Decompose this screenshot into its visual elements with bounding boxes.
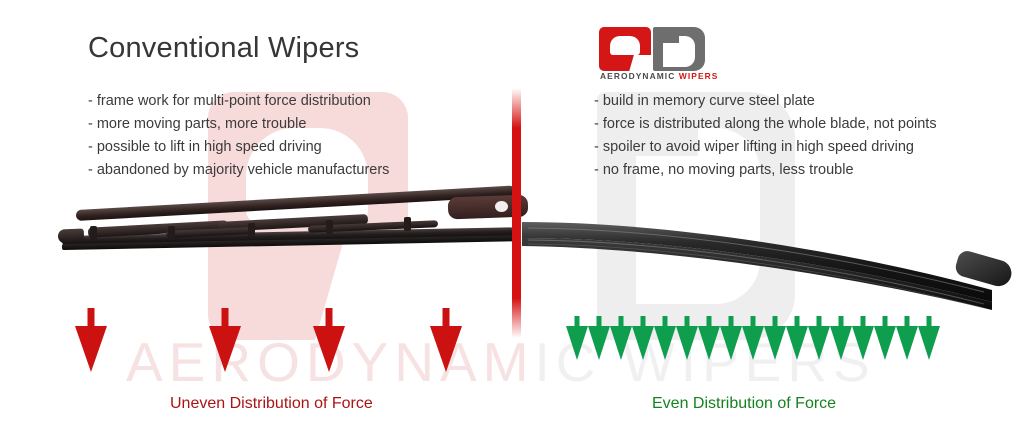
arrow-head [588,326,610,360]
page-title: Conventional Wipers [88,32,359,65]
logo-tagline-part2: WIPERS [679,71,719,81]
force-arrow-icon [632,316,654,360]
arrow-head [830,326,852,360]
force-arrow-icon [918,316,940,360]
list-item: - possible to lift in high speed driving [88,136,389,159]
arrow-head [742,326,764,360]
force-arrow-icon [610,316,632,360]
logo-tagline: AERODYNAMIC WIPERS [600,71,718,81]
logo-tagline-part1: AERODYNAMIC [600,71,675,81]
wiper-end-tip [58,229,84,244]
list-item: - force is distributed along the whole b… [594,113,937,136]
arrow-head [610,326,632,360]
aerodynamic-wiper-image [522,218,1010,314]
arrow-head [852,326,874,360]
force-arrow-icon [896,316,918,360]
aerodynamic-blade-shape [522,218,1010,314]
center-divider [512,88,521,338]
list-item: - more moving parts, more trouble [88,113,389,136]
force-arrow-icon [698,316,720,360]
arrow-head [566,326,588,360]
force-arrow-icon [566,316,588,360]
arrow-head [808,326,830,360]
aerodynamic-feature-list: - build in memory curve steel plate - fo… [594,90,937,182]
conventional-feature-list: - frame work for multi-point force distr… [88,90,389,182]
force-arrow-icon [209,308,241,368]
arrow-head [698,326,720,360]
conventional-wiper-image [58,196,518,258]
arrow-head [654,326,676,360]
wiper-contact-point [168,226,175,240]
force-arrow-icon [313,308,345,368]
arrow-head [764,326,786,360]
wiper-contact-point [326,220,333,234]
force-arrow-icon [852,316,874,360]
force-arrow-icon [786,316,808,360]
force-arrow-icon [75,308,107,368]
caption-uneven-force: Uneven Distribution of Force [170,395,373,413]
brand-logo: AERODYNAMIC WIPERS [599,27,739,83]
arrow-head [786,326,808,360]
arrow-head [918,326,940,360]
arrow-head [874,326,896,360]
arrow-head [720,326,742,360]
force-arrow-icon [742,316,764,360]
wiper-contact-point [248,223,255,237]
list-item: - no frame, no moving parts, less troubl… [594,159,937,182]
list-item: - frame work for multi-point force distr… [88,90,389,113]
comparison-infographic: AERODYNAMIC WIPERS Conventional Wipers -… [0,0,1024,440]
arrow-head [313,326,345,372]
force-arrow-icon [720,316,742,360]
wiper-contact-point [404,217,411,231]
force-arrow-icon [764,316,786,360]
logo-letter-a-counter [610,36,640,55]
force-arrow-icon [654,316,676,360]
logo-letter-d-notch [663,36,679,43]
force-arrow-icon [830,316,852,360]
arrow-head [75,326,107,372]
wiper-connector-hole [495,201,508,212]
force-arrow-icon [430,308,462,368]
force-arrow-icon [808,316,830,360]
force-arrow-icon [874,316,896,360]
wiper-contact-point [90,226,97,240]
arrow-head [676,326,698,360]
caption-even-force: Even Distribution of Force [652,395,836,413]
arrow-head [896,326,918,360]
arrow-head [430,326,462,372]
arrow-head [632,326,654,360]
list-item: - build in memory curve steel plate [594,90,937,113]
list-item: - spoiler to avoid wiper lifting in high… [594,136,937,159]
force-arrow-icon [676,316,698,360]
arrow-head [209,326,241,372]
force-arrow-icon [588,316,610,360]
list-item: - abandoned by majority vehicle manufact… [88,159,389,182]
